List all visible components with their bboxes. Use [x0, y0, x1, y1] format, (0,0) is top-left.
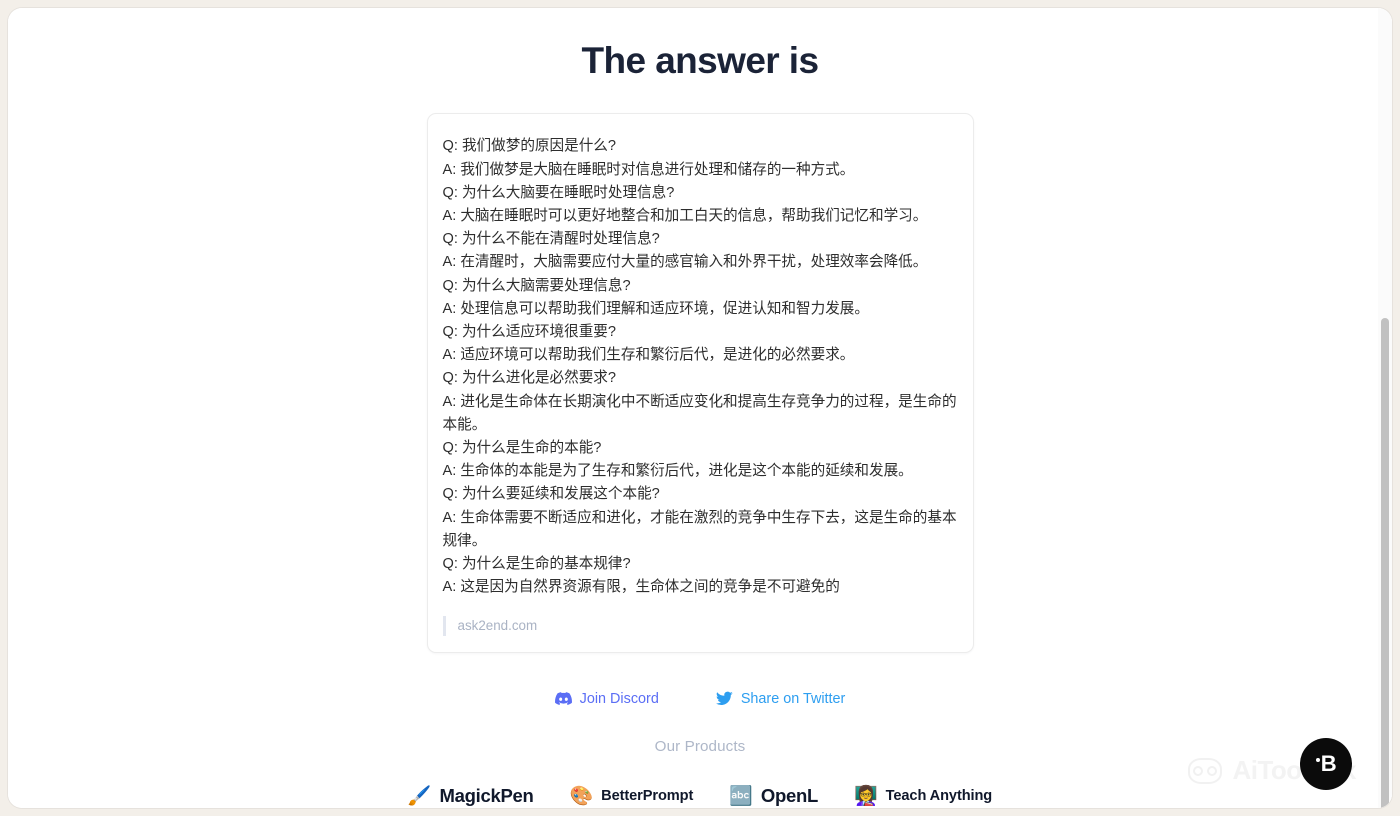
answer-card: Q: 我们做梦的原因是什么? A: 我们做梦是大脑在睡眠时对信息进行处理和储存的… [427, 113, 974, 653]
aitoolbox-badge: B [1300, 738, 1352, 790]
join-discord-link[interactable]: Join Discord [555, 690, 659, 707]
join-discord-label: Join Discord [580, 691, 659, 707]
source-url-text: ask2end.com [458, 616, 958, 636]
vertical-scrollbar-track[interactable] [1378, 8, 1392, 808]
source-blockquote: ask2end.com [443, 616, 958, 636]
translate-emoji-icon: 🔤 [729, 787, 753, 806]
social-links-row: Join Discord Share on Twitter [8, 690, 1392, 707]
palette-emoji-icon: 🎨 [570, 787, 594, 806]
aitoolbox-badge-letter: B [1321, 751, 1336, 777]
product-teach-anything[interactable]: 👩‍🏫 Teach Anything [854, 787, 992, 806]
product-magickpen[interactable]: 🖌️ MagickPen [408, 785, 534, 807]
share-on-twitter-label: Share on Twitter [741, 691, 846, 707]
aitoolbox-logo-icon [1188, 758, 1222, 784]
answer-card-wrapper: Q: 我们做梦的原因是什么? A: 我们做梦是大脑在睡眠时对信息进行处理和储存的… [8, 113, 1392, 653]
share-on-twitter-link[interactable]: Share on Twitter [716, 690, 846, 707]
browser-frame: The answer is Q: 我们做梦的原因是什么? A: 我们做梦是大脑在… [8, 8, 1392, 808]
discord-icon [555, 690, 572, 707]
paintbrush-emoji-icon: 🖌️ [408, 787, 432, 806]
our-products-heading: Our Products [8, 738, 1392, 755]
page-content: The answer is Q: 我们做梦的原因是什么? A: 我们做梦是大脑在… [8, 8, 1392, 808]
twitter-icon [716, 690, 733, 707]
product-betterprompt-label: BetterPrompt [601, 788, 693, 804]
answer-text: Q: 我们做梦的原因是什么? A: 我们做梦是大脑在睡眠时对信息进行处理和储存的… [443, 135, 958, 599]
product-openl[interactable]: 🔤 OpenL [729, 785, 818, 807]
product-openl-label: OpenL [761, 785, 818, 807]
product-teach-anything-label: Teach Anything [886, 788, 992, 804]
product-magickpen-label: MagickPen [440, 785, 534, 807]
vertical-scrollbar-thumb[interactable] [1381, 318, 1389, 808]
badge-dot-icon [1316, 758, 1320, 762]
product-betterprompt[interactable]: 🎨 BetterPrompt [570, 787, 694, 806]
page-title: The answer is [8, 39, 1392, 83]
teacher-emoji-icon: 👩‍🏫 [854, 787, 878, 806]
products-row: 🖌️ MagickPen 🎨 BetterPrompt 🔤 OpenL 👩‍🏫 … [8, 785, 1392, 807]
